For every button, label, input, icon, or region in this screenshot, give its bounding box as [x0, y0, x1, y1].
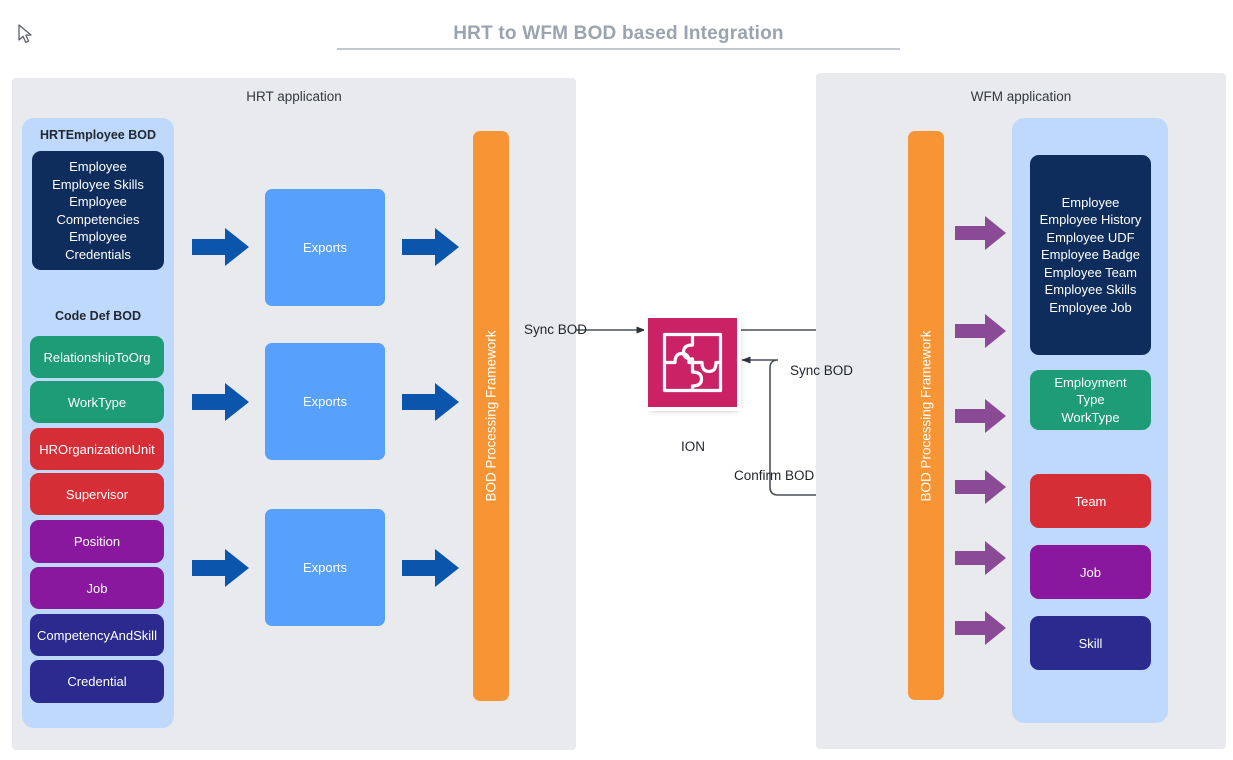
code-def-bod-heading: Code Def BOD — [22, 309, 174, 323]
arrow-hrt-to-exports-2 — [192, 383, 250, 421]
diagram-canvas: HRT to WFM BOD based Integration HRT app… — [0, 0, 1233, 760]
arrow-exports-to-framework-3 — [402, 549, 460, 587]
hrt-employee-bod-box: Employee Employee Skills Employee Compet… — [32, 151, 164, 270]
arrow-framework-to-wfm-3 — [955, 399, 1007, 433]
hrt-item-job[interactable]: Job — [30, 567, 164, 609]
ion-node[interactable] — [648, 318, 737, 407]
flow-label-sync-bod-outbound: Sync BOD — [524, 322, 587, 337]
mouse-pointer-icon — [18, 24, 34, 46]
arrow-framework-to-wfm-4 — [955, 470, 1007, 504]
hrt-application-title: HRT application — [12, 89, 576, 104]
arrow-framework-to-wfm-5 — [955, 541, 1007, 575]
wfm-employee-box: Employee Employee History Employee UDF E… — [1030, 155, 1151, 355]
wfm-item-team[interactable]: Team — [1030, 474, 1151, 528]
flow-label-sync-bod-inbound: Sync BOD — [790, 363, 853, 378]
wfm-application-title: WFM application — [816, 89, 1226, 104]
wfm-bod-column: Employee Employee History Employee UDF E… — [1012, 118, 1168, 723]
arrow-hrt-to-exports-3 — [192, 549, 250, 587]
hrt-item-credential[interactable]: Credential — [30, 660, 164, 703]
hrt-bod-column: HRTEmployee BOD Employee Employee Skills… — [22, 118, 174, 728]
hrt-bod-processing-framework-bar: BOD Processing Framework — [473, 131, 509, 701]
exports-box-2[interactable]: Exports — [265, 343, 385, 460]
exports-box-1[interactable]: Exports — [265, 189, 385, 306]
hrt-item-worktype[interactable]: WorkType — [30, 381, 164, 423]
arrow-exports-to-framework-1 — [402, 228, 460, 266]
puzzle-icon — [662, 332, 723, 393]
hrt-item-competencyandskill[interactable]: CompetencyAndSkill — [30, 614, 164, 656]
wfm-item-skill[interactable]: Skill — [1030, 616, 1151, 670]
wfm-bod-processing-framework-bar: BOD Processing Framework — [908, 131, 944, 700]
hrt-item-supervisor[interactable]: Supervisor — [30, 473, 164, 515]
flow-label-confirm-bod: Confirm BOD — [734, 468, 814, 483]
wfm-item-job[interactable]: Job — [1030, 545, 1151, 599]
hrt-item-position[interactable]: Position — [30, 520, 164, 563]
hrt-employee-bod-heading: HRTEmployee BOD — [22, 128, 174, 142]
hrt-item-hrorganizationunit[interactable]: HROrganizationUnit — [30, 428, 164, 470]
arrow-exports-to-framework-2 — [402, 383, 460, 421]
wfm-framework-label: BOD Processing Framework — [919, 330, 934, 501]
arrow-hrt-to-exports-1 — [192, 228, 250, 266]
arrow-framework-to-wfm-2 — [955, 314, 1007, 348]
arrow-framework-to-wfm-6 — [955, 611, 1007, 645]
wfm-item-employment-type-worktype[interactable]: Employment Type WorkType — [1030, 370, 1151, 430]
hrt-framework-label: BOD Processing Framework — [484, 330, 499, 501]
exports-box-3[interactable]: Exports — [265, 509, 385, 626]
hrt-item-relationshiptoorg[interactable]: RelationshipToOrg — [30, 336, 164, 378]
ion-node-label: ION — [648, 439, 738, 454]
arrow-framework-to-wfm-1 — [955, 216, 1007, 250]
